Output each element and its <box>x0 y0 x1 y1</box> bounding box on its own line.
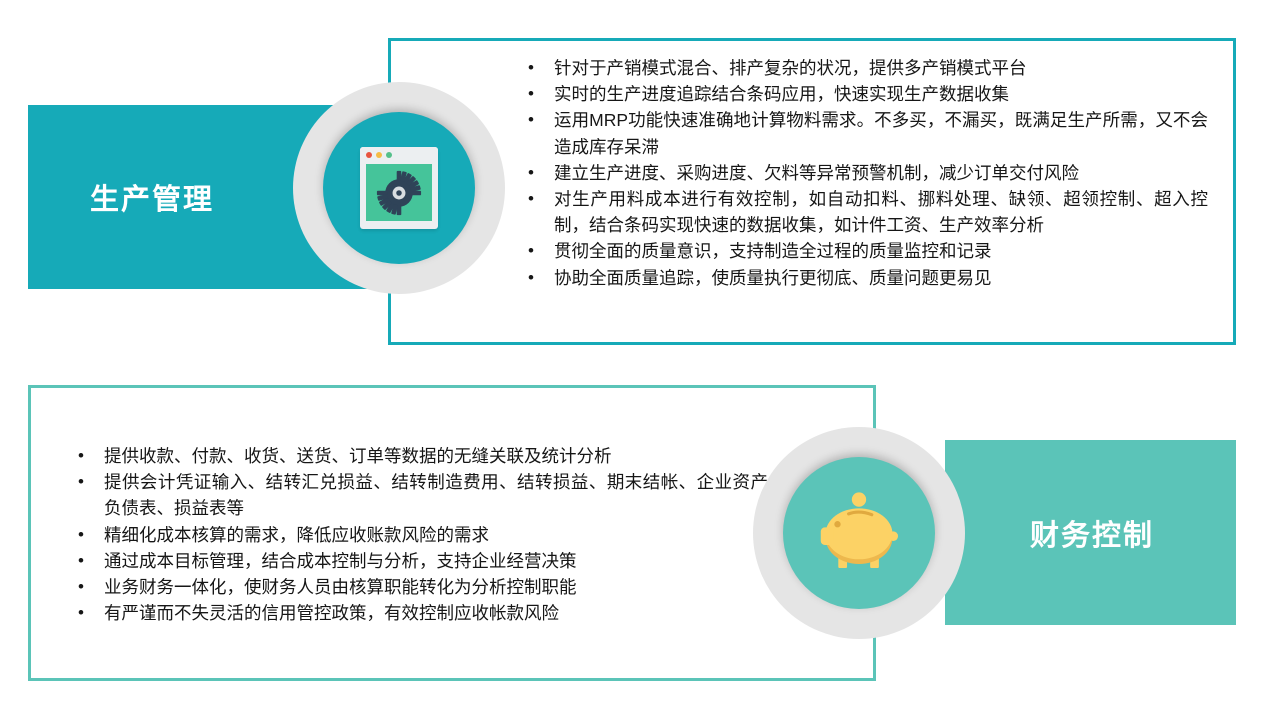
list-item: • 有严谨而不失灵活的信用管控政策，有效控制应收帐款风险 <box>78 600 768 626</box>
list-item: • 提供会计凭证输入、结转汇兑损益、结转制造费用、结转损益、期末结帐、企业资产负… <box>78 469 768 521</box>
bullet-text: 有严谨而不失灵活的信用管控政策，有效控制应收帐款风险 <box>104 600 768 626</box>
bullet-marker: • <box>528 160 554 186</box>
browser-dot-yellow-icon <box>376 152 382 158</box>
piggy-bank-icon <box>811 490 907 576</box>
bullet-marker: • <box>78 574 104 600</box>
list-item: • 协助全面质量追踪，使质量执行更彻底、质量问题更易见 <box>528 265 1208 291</box>
list-item: • 业务财务一体化，使财务人员由核算职能转化为分析控制职能 <box>78 574 768 600</box>
browser-titlebar <box>360 147 438 162</box>
list-item: • 建立生产进度、采购进度、欠料等异常预警机制，减少订单交付风险 <box>528 160 1208 186</box>
bullet-text: 运用MRP功能快速准确地计算物料需求。不多买，不漏买，既满足生产所需，又不会造成… <box>554 107 1208 159</box>
bullet-text: 建立生产进度、采购进度、欠料等异常预警机制，减少订单交付风险 <box>554 160 1208 186</box>
bullet-text: 协助全面质量追踪，使质量执行更彻底、质量问题更易见 <box>554 265 1208 291</box>
bullet-text: 针对于产销模式混合、排产复杂的状况，提供多产销模式平台 <box>554 55 1208 81</box>
finance-title: 财务控制 <box>1030 512 1154 554</box>
list-item: • 精细化成本核算的需求，降低应收账款风险的需求 <box>78 522 768 548</box>
bullet-marker: • <box>78 522 104 548</box>
list-item: • 通过成本目标管理，结合成本控制与分析，支持企业经营决策 <box>78 548 768 574</box>
bullet-text: 提供会计凭证输入、结转汇兑损益、结转制造费用、结转损益、期末结帐、企业资产负债表… <box>104 469 768 521</box>
browser-viewport <box>366 164 432 221</box>
bullet-marker: • <box>528 55 554 81</box>
production-bullet-list: • 针对于产销模式混合、排产复杂的状况，提供多产销模式平台 • 实时的生产进度追… <box>528 55 1208 291</box>
list-item: • 提供收款、付款、收货、送货、订单等数据的无缝关联及统计分析 <box>78 443 768 469</box>
browser-gear-icon <box>360 147 438 229</box>
list-item: • 贯彻全面的质量意识，支持制造全过程的质量监控和记录 <box>528 238 1208 264</box>
browser-dot-red-icon <box>366 152 372 158</box>
bullet-marker: • <box>78 600 104 626</box>
bullet-text: 贯彻全面的质量意识，支持制造全过程的质量监控和记录 <box>554 238 1208 264</box>
production-icon-medallion <box>293 82 505 294</box>
bullet-marker: • <box>528 238 554 264</box>
bullet-text: 提供收款、付款、收货、送货、订单等数据的无缝关联及统计分析 <box>104 443 768 469</box>
bullet-marker: • <box>528 107 554 133</box>
finance-bullet-list: • 提供收款、付款、收货、送货、订单等数据的无缝关联及统计分析 • 提供会计凭证… <box>78 443 768 626</box>
bullet-text: 精细化成本核算的需求，降低应收账款风险的需求 <box>104 522 768 548</box>
browser-dot-green-icon <box>386 152 392 158</box>
production-medallion-inner <box>323 112 475 264</box>
bullet-marker: • <box>528 265 554 291</box>
list-item: • 针对于产销模式混合、排产复杂的状况，提供多产销模式平台 <box>528 55 1208 81</box>
bullet-marker: • <box>528 81 554 107</box>
piggy-bank-svg <box>811 490 907 576</box>
bullet-text: 实时的生产进度追踪结合条码应用，快速实现生产数据收集 <box>554 81 1208 107</box>
finance-icon-medallion <box>753 427 965 639</box>
slide-canvas: 生产管理 <box>0 0 1264 710</box>
bullet-text: 业务财务一体化，使财务人员由核算职能转化为分析控制职能 <box>104 574 768 600</box>
bullet-text: 通过成本目标管理，结合成本控制与分析，支持企业经营决策 <box>104 548 768 574</box>
bullet-marker: • <box>78 548 104 574</box>
finance-medallion-inner <box>783 457 935 609</box>
bullet-marker: • <box>78 443 104 469</box>
bullet-marker: • <box>78 469 104 495</box>
bullet-marker: • <box>528 186 554 212</box>
list-item: • 实时的生产进度追踪结合条码应用，快速实现生产数据收集 <box>528 81 1208 107</box>
bullet-text: 对生产用料成本进行有效控制，如自动扣料、挪料处理、缺领、超领控制、超入控制，结合… <box>554 186 1208 238</box>
finance-title-bar[interactable]: 财务控制 <box>945 440 1236 625</box>
list-item: • 运用MRP功能快速准确地计算物料需求。不多买，不漏买，既满足生产所需，又不会… <box>528 107 1208 159</box>
production-title: 生产管理 <box>90 176 214 218</box>
gear-icon <box>376 170 422 216</box>
list-item: • 对生产用料成本进行有效控制，如自动扣料、挪料处理、缺领、超领控制、超入控制，… <box>528 186 1208 238</box>
